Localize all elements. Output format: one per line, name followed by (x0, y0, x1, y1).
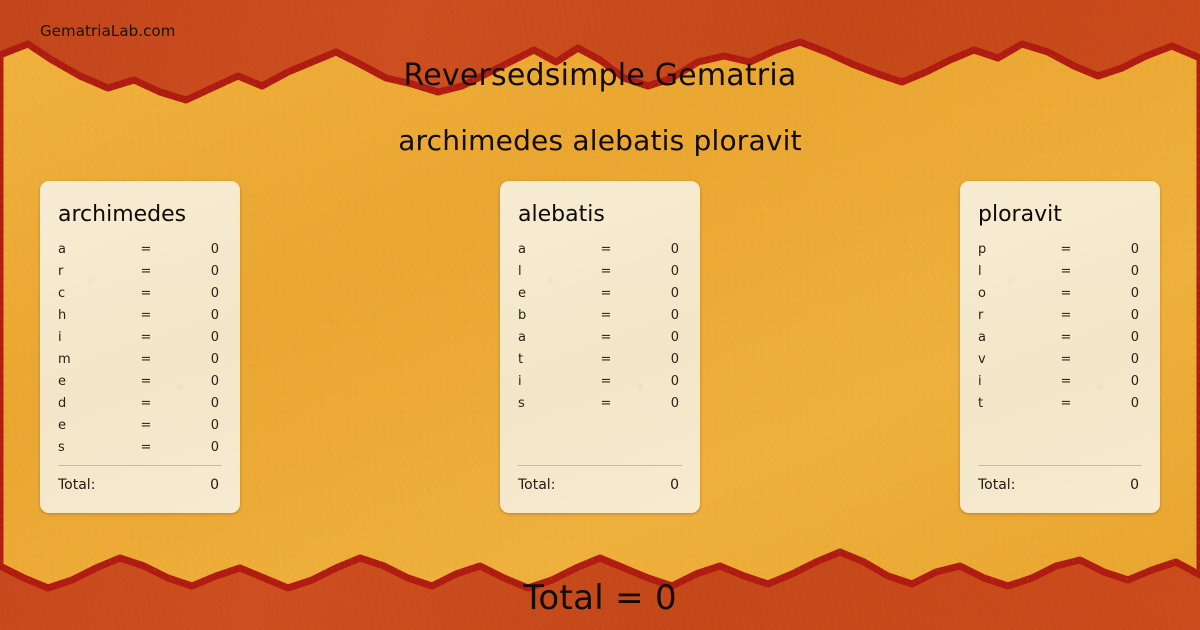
equals-sign: = (1050, 308, 1082, 323)
equals-sign: = (590, 264, 622, 279)
equals-sign: = (590, 374, 622, 389)
equals-sign: = (590, 286, 622, 301)
equals-sign: = (130, 418, 162, 433)
letter-value: 0 (1082, 396, 1142, 411)
letter-char: a (58, 242, 130, 257)
letter-char: l (978, 264, 1050, 279)
letter-value: 0 (1082, 286, 1142, 301)
letter-value: 0 (622, 242, 682, 257)
letter-char: i (518, 374, 590, 389)
letter-row: e = 0 (58, 374, 222, 396)
letter-value: 0 (622, 330, 682, 345)
letter-value: 0 (162, 352, 222, 367)
letter-char: p (978, 242, 1050, 257)
letter-char: e (58, 418, 130, 433)
equals-sign: = (130, 374, 162, 389)
letter-value: 0 (162, 440, 222, 455)
letter-value: 0 (1082, 242, 1142, 257)
equals-sign: = (130, 242, 162, 257)
equals-sign: = (1050, 330, 1082, 345)
letter-char: e (58, 374, 130, 389)
letter-row: b = 0 (518, 308, 682, 330)
word-card: archimedes a = 0 r = 0 c = 0 h (40, 181, 240, 513)
letter-row: p = 0 (978, 242, 1142, 264)
letter-row: l = 0 (518, 264, 682, 286)
letter-row: o = 0 (978, 286, 1142, 308)
card-total-row: Total: 0 (978, 477, 1142, 493)
letter-char: m (58, 352, 130, 367)
letter-char: a (978, 330, 1050, 345)
letter-value: 0 (1082, 264, 1142, 279)
letter-char: a (518, 242, 590, 257)
letter-char: r (978, 308, 1050, 323)
letter-char: s (58, 440, 130, 455)
letter-value: 0 (162, 286, 222, 301)
phrase-subtitle: archimedes alebatis ploravit (0, 124, 1200, 157)
footer-divider (58, 465, 222, 466)
equals-sign: = (130, 440, 162, 455)
total-label: Total: (518, 477, 670, 493)
letter-value: 0 (1082, 352, 1142, 367)
word-card: ploravit p = 0 l = 0 o = 0 r (960, 181, 1160, 513)
letter-char: a (518, 330, 590, 345)
word-card-title: alebatis (518, 204, 682, 226)
letter-rows: a = 0 l = 0 e = 0 b = 0 (518, 242, 682, 418)
letter-row: d = 0 (58, 396, 222, 418)
equals-sign: = (1050, 286, 1082, 301)
equals-sign: = (590, 352, 622, 367)
letter-row: t = 0 (978, 396, 1142, 418)
equals-sign: = (130, 352, 162, 367)
letter-row: a = 0 (518, 242, 682, 264)
letter-value: 0 (1082, 330, 1142, 345)
equals-sign: = (130, 286, 162, 301)
letter-char: s (518, 396, 590, 411)
footer-divider (518, 465, 682, 466)
letter-row: a = 0 (518, 330, 682, 352)
card-total-row: Total: 0 (58, 477, 222, 493)
site-logo[interactable]: GematriaLab.com (40, 22, 175, 40)
equals-sign: = (130, 330, 162, 345)
letter-row: i = 0 (58, 330, 222, 352)
letter-char: d (58, 396, 130, 411)
equals-sign: = (1050, 264, 1082, 279)
letter-char: i (978, 374, 1050, 389)
letter-row: s = 0 (518, 396, 682, 418)
total-label: Total: (978, 477, 1130, 493)
letter-row: m = 0 (58, 352, 222, 374)
word-card-title: archimedes (58, 204, 222, 226)
equals-sign: = (130, 308, 162, 323)
letter-value: 0 (162, 264, 222, 279)
letter-char: l (518, 264, 590, 279)
letter-row: e = 0 (518, 286, 682, 308)
letter-char: r (58, 264, 130, 279)
grand-total: Total = 0 (0, 578, 1200, 618)
letter-char: v (978, 352, 1050, 367)
letter-value: 0 (162, 396, 222, 411)
equals-sign: = (590, 396, 622, 411)
equals-sign: = (590, 308, 622, 323)
letter-value: 0 (162, 418, 222, 433)
letter-char: b (518, 308, 590, 323)
letter-value: 0 (622, 352, 682, 367)
letter-row: a = 0 (58, 242, 222, 264)
letter-value: 0 (162, 374, 222, 389)
equals-sign: = (1050, 396, 1082, 411)
gematria-poster: GematriaLab.com Reversedsimple Gematria … (0, 0, 1200, 630)
card-footer: Total: 0 (978, 465, 1142, 493)
letter-value: 0 (622, 308, 682, 323)
letter-row: l = 0 (978, 264, 1142, 286)
letter-value: 0 (622, 374, 682, 389)
letter-value: 0 (1082, 308, 1142, 323)
letter-value: 0 (162, 308, 222, 323)
letter-row: r = 0 (978, 308, 1142, 330)
letter-row: r = 0 (58, 264, 222, 286)
letter-char: o (978, 286, 1050, 301)
equals-sign: = (590, 330, 622, 345)
footer-divider (978, 465, 1142, 466)
word-cards-container: archimedes a = 0 r = 0 c = 0 h (0, 181, 1200, 513)
letter-row: v = 0 (978, 352, 1142, 374)
page-title: Reversedsimple Gematria (0, 58, 1200, 93)
letter-value: 0 (162, 330, 222, 345)
letter-row: c = 0 (58, 286, 222, 308)
letter-rows: p = 0 l = 0 o = 0 r = 0 (978, 242, 1142, 418)
letter-value: 0 (1082, 374, 1142, 389)
word-card: alebatis a = 0 l = 0 e = 0 b (500, 181, 700, 513)
card-footer: Total: 0 (518, 465, 682, 493)
letter-row: s = 0 (58, 440, 222, 462)
letter-value: 0 (622, 264, 682, 279)
letter-row: t = 0 (518, 352, 682, 374)
total-value: 0 (670, 477, 682, 493)
letter-row: i = 0 (518, 374, 682, 396)
letter-row: e = 0 (58, 418, 222, 440)
equals-sign: = (130, 396, 162, 411)
equals-sign: = (1050, 242, 1082, 257)
card-footer: Total: 0 (58, 465, 222, 493)
equals-sign: = (590, 242, 622, 257)
letter-char: c (58, 286, 130, 301)
letter-char: e (518, 286, 590, 301)
total-value: 0 (210, 477, 222, 493)
word-card-title: ploravit (978, 204, 1142, 226)
letter-char: t (518, 352, 590, 367)
letter-char: i (58, 330, 130, 345)
card-total-row: Total: 0 (518, 477, 682, 493)
equals-sign: = (1050, 374, 1082, 389)
letter-value: 0 (622, 396, 682, 411)
letter-value: 0 (622, 286, 682, 301)
letter-char: h (58, 308, 130, 323)
total-label: Total: (58, 477, 210, 493)
equals-sign: = (130, 264, 162, 279)
letter-value: 0 (162, 242, 222, 257)
equals-sign: = (1050, 352, 1082, 367)
letter-rows: a = 0 r = 0 c = 0 h = 0 (58, 242, 222, 462)
letter-char: t (978, 396, 1050, 411)
letter-row: a = 0 (978, 330, 1142, 352)
letter-row: i = 0 (978, 374, 1142, 396)
letter-row: h = 0 (58, 308, 222, 330)
total-value: 0 (1130, 477, 1142, 493)
